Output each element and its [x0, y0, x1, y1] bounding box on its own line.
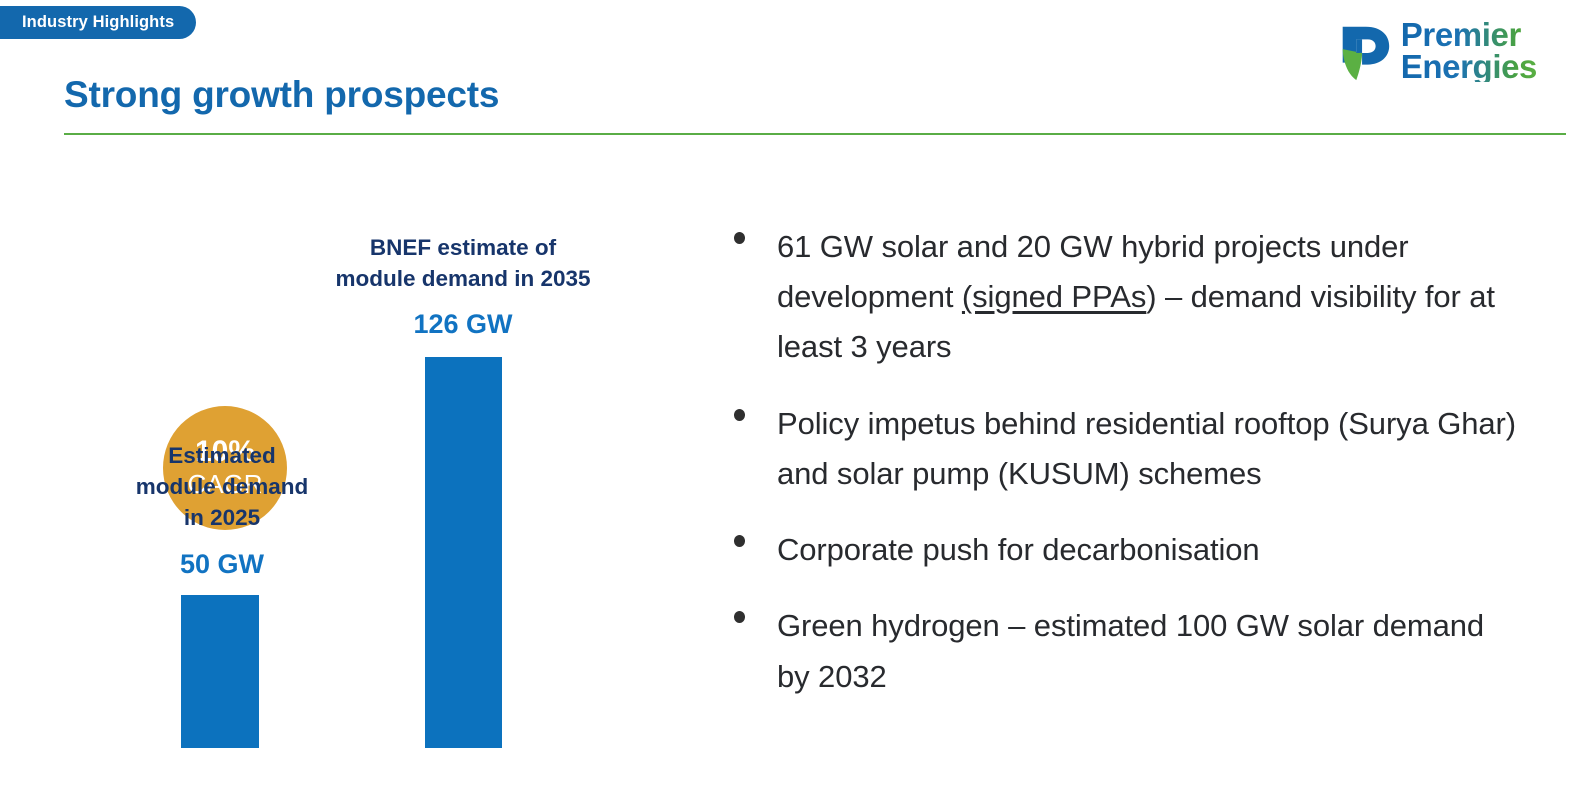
brand-line-energies: Energies: [1401, 52, 1537, 82]
bar-caption-2025-line-1: Estimated: [100, 440, 344, 471]
bullet-dot-icon: [722, 399, 777, 421]
slide-root: Industry Highlights Premier Energies Str…: [0, 0, 1571, 808]
list-item-text: 61 GW solar and 20 GW hybrid projects un…: [777, 222, 1522, 373]
bullet-1-underlined: (signed PPAs: [962, 279, 1146, 314]
bar-caption-2025-line-2: module demand: [100, 471, 344, 502]
bar-caption-2025-line-3: in 2025: [100, 502, 344, 533]
list-item: 61 GW solar and 20 GW hybrid projects un…: [722, 222, 1522, 373]
brand-wordmark: Premier Energies: [1401, 20, 1537, 82]
section-tab-industry-highlights[interactable]: Industry Highlights: [0, 6, 196, 39]
bar-chart: 10% CAGR BNEF estimate of module demand …: [0, 150, 680, 790]
brand-line-premier: Premier: [1401, 20, 1537, 50]
premier-energies-p-leaf-icon: [1333, 20, 1395, 82]
list-item-text: Green hydrogen – estimated 100 GW solar …: [777, 601, 1522, 701]
bullet-dot-icon: [722, 222, 777, 244]
bar-2025: [181, 595, 259, 748]
bar-caption-2025: Estimated module demand in 2025: [100, 440, 344, 533]
bullet-dot-icon: [722, 601, 777, 623]
bullet-dot-icon: [722, 525, 777, 547]
list-item: Corporate push for decarbonisation: [722, 525, 1522, 575]
list-item-text: Corporate push for decarbonisation: [777, 525, 1522, 575]
title-divider: [64, 133, 1566, 135]
bar-caption-2035-line-1: BNEF estimate of: [306, 232, 620, 263]
bar-caption-2035: BNEF estimate of module demand in 2035: [306, 232, 620, 294]
section-tab-label: Industry Highlights: [22, 13, 174, 32]
bar-2035: [425, 357, 502, 748]
list-item: Policy impetus behind residential roofto…: [722, 399, 1522, 499]
bar-value-2035: 126 GW: [306, 310, 620, 340]
list-item: Green hydrogen – estimated 100 GW solar …: [722, 601, 1522, 701]
bar-caption-2035-line-2: module demand in 2035: [306, 263, 620, 294]
highlights-list: 61 GW solar and 20 GW hybrid projects un…: [722, 222, 1522, 702]
page-title: Strong growth prospects: [64, 74, 499, 116]
list-item-text: Policy impetus behind residential roofto…: [777, 399, 1522, 499]
brand-logo: Premier Energies: [1333, 18, 1537, 84]
bar-value-2025: 50 GW: [100, 550, 344, 580]
